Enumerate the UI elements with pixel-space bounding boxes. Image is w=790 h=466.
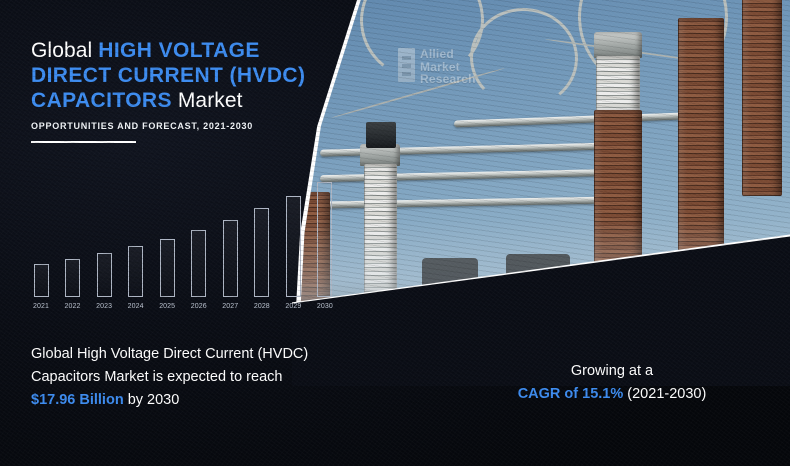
market-statement-line-1: Global High Voltage Direct Current (HVDC… [31, 343, 381, 366]
chart-label-2026: 2026 [186, 299, 212, 315]
watermark-line-1: Allied [420, 48, 476, 61]
chart-bars [28, 182, 338, 297]
chart-label-2028: 2028 [249, 299, 275, 315]
chart-bar-column [28, 182, 54, 297]
title-divider [31, 141, 136, 143]
market-value-year: by 2030 [124, 392, 180, 408]
chart-bar-column [312, 182, 338, 297]
subtitle: OPPORTUNITIES AND FORECAST, 2021-2030 [31, 121, 253, 131]
market-statement-line-2: Capacitors Market is expected to reach [31, 366, 381, 389]
photo-insulator-edge [742, 0, 782, 196]
infographic-canvas: Allied Market Research Global HIGH VOLTA… [0, 0, 790, 466]
cagr-line-1: Growing at a [452, 360, 772, 383]
chart-bar-2030 [317, 182, 332, 297]
chart-x-axis-labels: 2021202220232024202520262027202820292030 [28, 299, 338, 315]
photo-insulator-cap-right [594, 32, 642, 58]
chart-label-2021: 2021 [28, 299, 54, 315]
chart-label-2022: 2022 [60, 299, 86, 315]
chart-bar-column [249, 182, 275, 297]
title-capacitors: CAPACITORS [31, 89, 172, 112]
title-line-3: CAPACITORS Market [31, 88, 331, 113]
chart-bar-column [123, 182, 149, 297]
photo-clamp-1 [366, 122, 396, 148]
chart-bar-2029 [286, 196, 301, 297]
chart-bar-2028 [254, 208, 269, 297]
page-title: Global HIGH VOLTAGE DIRECT CURRENT (HVDC… [31, 38, 331, 113]
title-line-2: DIRECT CURRENT (HVDC) [31, 63, 331, 88]
market-statement-line-3: $17.96 Billion by 2030 [31, 389, 381, 412]
watermark-text: Allied Market Research [420, 48, 476, 86]
chart-label-2030: 2030 [312, 299, 338, 315]
title-direct-current-hvdc: DIRECT CURRENT (HVDC) [31, 64, 305, 87]
chart-bar-column [91, 182, 117, 297]
chart-bar-2026 [191, 230, 206, 297]
cagr-statement: Growing at a CAGR of 15.1% (2021-2030) [452, 360, 772, 406]
chart-label-2024: 2024 [123, 299, 149, 315]
chart-bar-2022 [65, 259, 80, 297]
title-word-market: Market [172, 89, 243, 112]
cagr-figure: CAGR of 15.1% [518, 386, 624, 402]
chart-label-2029: 2029 [280, 299, 306, 315]
chart-bar-column [217, 182, 243, 297]
chart-bar-2024 [128, 246, 143, 297]
photo-insulator-right-upper [596, 56, 640, 112]
chart-label-2027: 2027 [217, 299, 243, 315]
chart-bar-column [154, 182, 180, 297]
allied-market-research-watermark: Allied Market Research [398, 48, 476, 86]
watermark-line-3: Research [420, 73, 476, 86]
chart-bar-column [60, 182, 86, 297]
chart-bar-2027 [223, 220, 238, 297]
chart-bar-column [280, 182, 306, 297]
title-word-global: Global [31, 39, 98, 62]
forecast-bar-chart: 2021202220232024202520262027202820292030 [28, 180, 338, 315]
title-high-voltage: HIGH VOLTAGE [98, 39, 260, 62]
market-value-statement: Global High Voltage Direct Current (HVDC… [31, 343, 381, 412]
chart-label-2025: 2025 [154, 299, 180, 315]
chart-label-2023: 2023 [91, 299, 117, 315]
chart-bar-2025 [160, 239, 175, 297]
cagr-line-2: CAGR of 15.1% (2021-2030) [452, 383, 772, 406]
chart-bar-column [186, 182, 212, 297]
cagr-period: (2021-2030) [623, 386, 706, 402]
title-line-1: Global HIGH VOLTAGE [31, 38, 331, 63]
chart-bar-2021 [34, 264, 49, 297]
market-value-figure: $17.96 Billion [31, 392, 124, 408]
amr-logo-icon [398, 48, 415, 82]
chart-bar-2023 [97, 253, 112, 297]
